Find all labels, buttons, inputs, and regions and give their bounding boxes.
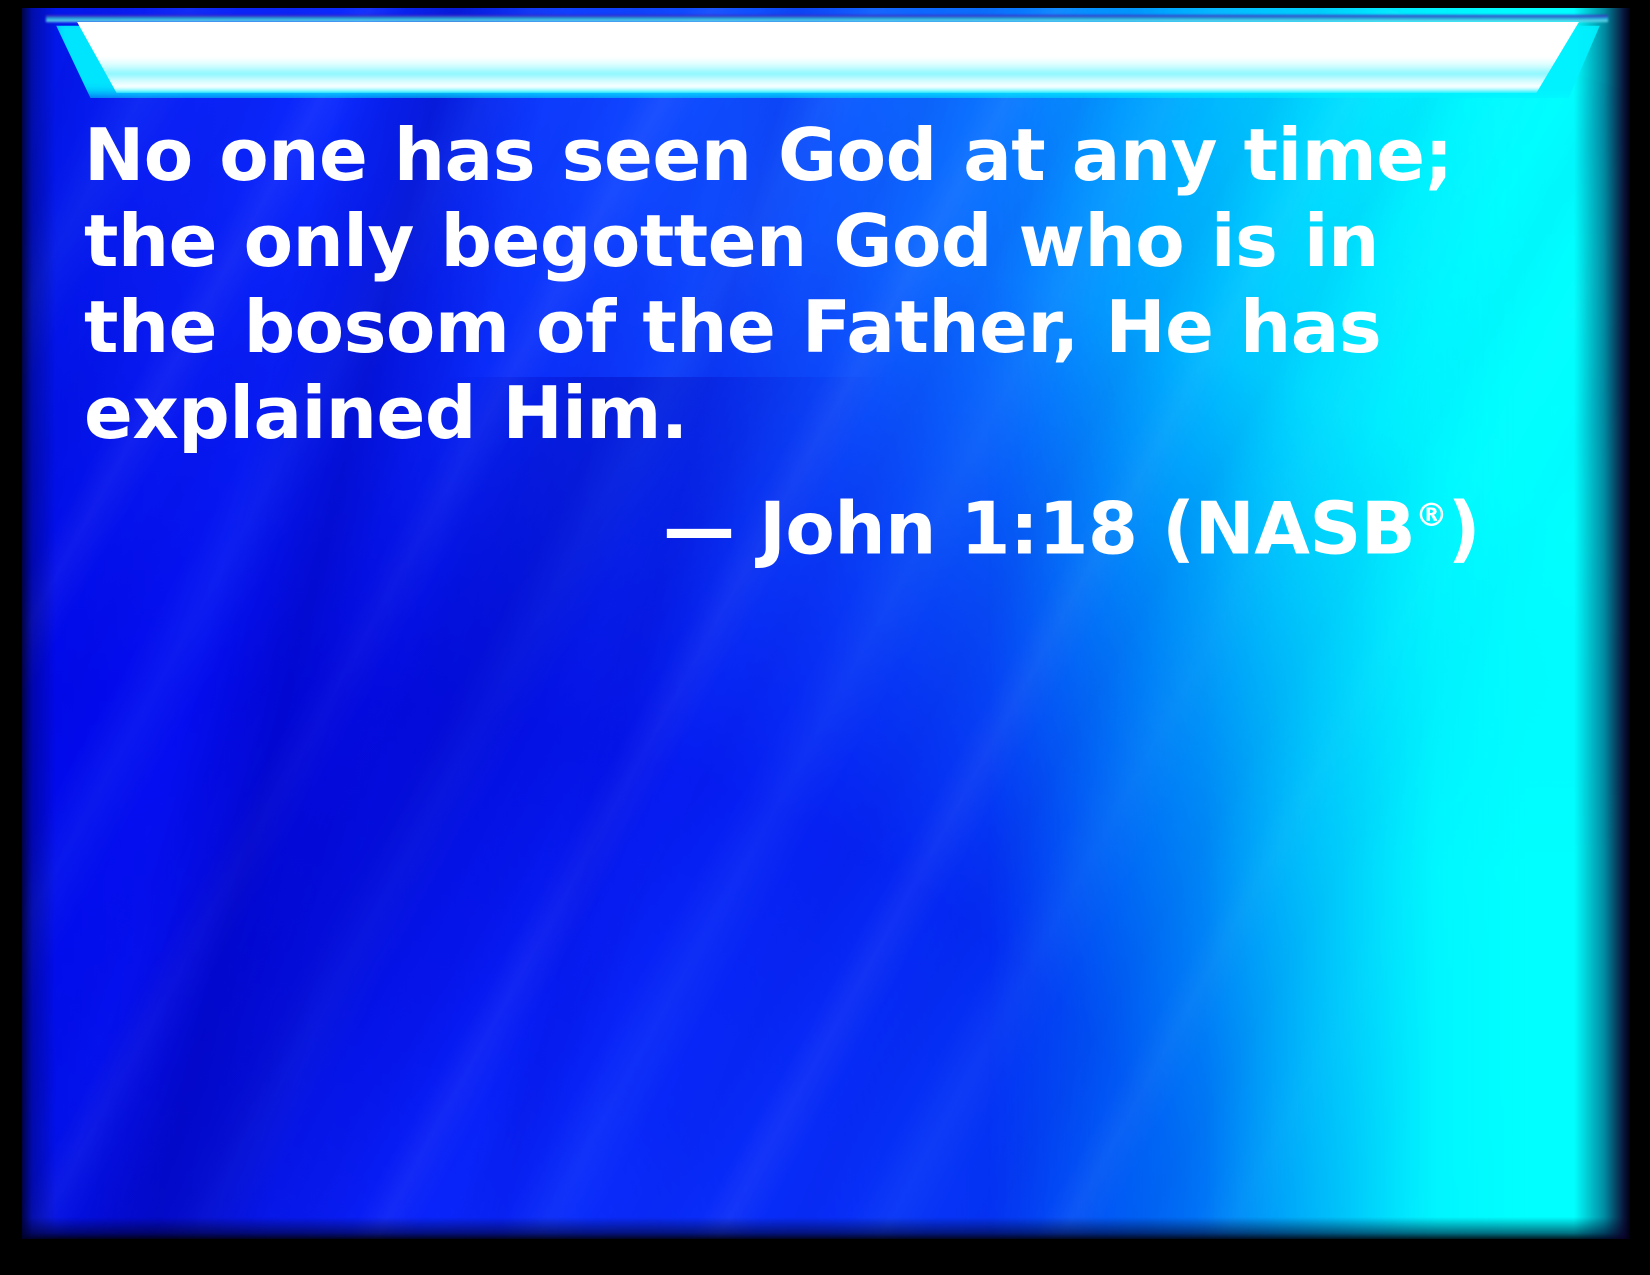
attribution-reference: John 1:18 (NASB <box>759 487 1415 571</box>
registered-trademark-icon: ® <box>1415 496 1447 534</box>
verse-attribution: — John 1:18 (NASB®) <box>84 472 1504 572</box>
verse-slide: No one has seen God at any time; the onl… <box>0 0 1650 1275</box>
attribution-close-paren: ) <box>1448 487 1480 571</box>
verse-text: No one has seen God at any time; the onl… <box>84 112 1504 456</box>
attribution-em-dash: — <box>663 487 735 571</box>
verse-content: No one has seen God at any time; the onl… <box>84 112 1504 572</box>
